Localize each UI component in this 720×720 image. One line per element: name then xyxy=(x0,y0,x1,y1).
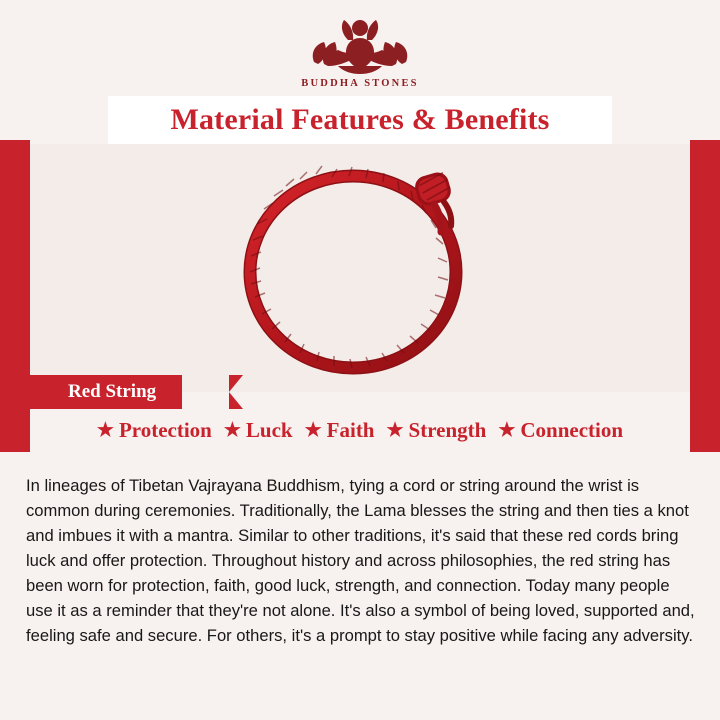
product-label: Red String xyxy=(68,381,156,403)
star-icon: ★ xyxy=(224,421,241,440)
brand-name: BUDDHA STONES xyxy=(0,78,720,89)
benefit-item-luck: ★ Luck xyxy=(218,418,299,443)
star-icon: ★ xyxy=(305,421,322,440)
page-title-banner: Material Features & Benefits xyxy=(108,96,612,144)
star-icon: ★ xyxy=(97,421,114,440)
benefits-row: ★ Protection ★ Luck ★ Faith ★ Strength ★… xyxy=(30,418,690,443)
benefit-item-protection: ★ Protection xyxy=(91,418,218,443)
benefit-label: Faith xyxy=(327,418,375,443)
lotus-meditation-icon xyxy=(308,14,412,76)
star-icon: ★ xyxy=(498,421,515,440)
content-layer: BUDDHA STONES Material Features & Benefi… xyxy=(0,0,720,720)
benefit-item-faith: ★ Faith xyxy=(299,418,381,443)
benefit-label: Protection xyxy=(119,418,212,443)
page-title: Material Features & Benefits xyxy=(170,103,549,137)
description-text: In lineages of Tibetan Vajrayana Buddhis… xyxy=(26,473,698,648)
infographic-page: BUDDHA STONES Material Features & Benefi… xyxy=(0,0,720,720)
benefit-label: Connection xyxy=(520,418,623,443)
benefit-label: Strength xyxy=(409,418,487,443)
benefit-item-connection: ★ Connection xyxy=(492,418,629,443)
benefit-item-strength: ★ Strength xyxy=(381,418,493,443)
benefit-label: Luck xyxy=(246,418,293,443)
red-string-bracelet-image xyxy=(220,152,500,382)
product-image-panel xyxy=(30,144,690,392)
brand-logo: BUDDHA STONES xyxy=(0,14,720,89)
star-icon: ★ xyxy=(387,421,404,440)
ribbon-tail-shape xyxy=(229,375,243,409)
product-label-ribbon: Red String xyxy=(30,375,182,409)
